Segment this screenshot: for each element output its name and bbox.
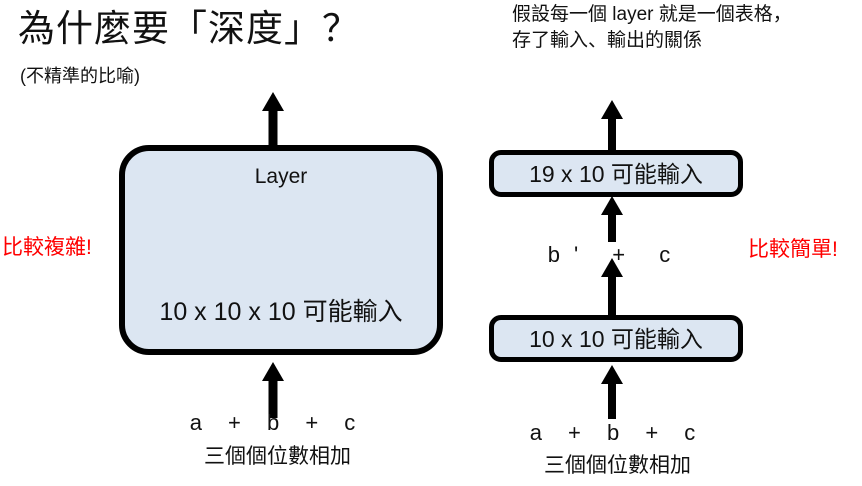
layer-box-count: 10 x 10 x 10 可能輸入 [125, 298, 437, 326]
top-right-note: 假設每一個 layer 就是一個表格， 存了輸入、輸出的關係 [512, 2, 792, 54]
arrow-shaft [608, 274, 616, 318]
arrow-shaft [608, 212, 616, 242]
layer-box-left[interactable]: Layer 10 x 10 x 10 可能輸入 [119, 145, 443, 355]
layer-box-title: Layer [125, 163, 437, 191]
table-box-right-bottom[interactable]: 10 x 10 可能輸入 [489, 315, 743, 362]
caption-right: 三個個位數相加 [495, 452, 740, 480]
annotation-left-complex: 比較複雜! [2, 235, 92, 261]
table-box-right-top-count: 19 x 10 可能輸入 [494, 160, 738, 188]
table-box-right-bottom-count: 10 x 10 可能輸入 [494, 325, 738, 353]
arrow-shaft [608, 381, 616, 419]
formula-right: a + b + c [495, 419, 740, 447]
page-subtitle: (不精準的比喻) [20, 64, 140, 88]
table-box-right-top[interactable]: 19 x 10 可能輸入 [489, 150, 743, 197]
slide-canvas: 為什麼要「深度」？ (不精準的比喻) 假設每一個 layer 就是一個表格， 存… [0, 0, 862, 486]
annotation-right-simple: 比較簡單! [748, 237, 838, 263]
formula-left: a + b + c [155, 409, 400, 437]
caption-left: 三個個位數相加 [155, 443, 400, 471]
page-title: 為什麼要「深度」？ [18, 6, 360, 52]
